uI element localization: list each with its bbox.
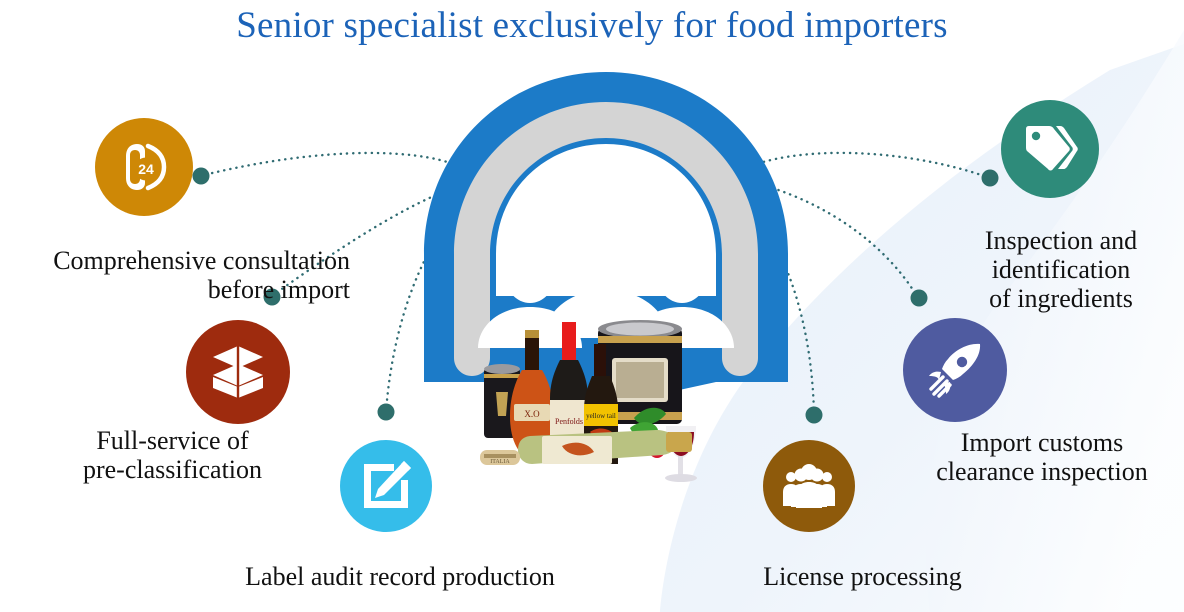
label-line-3: of ingredients [938, 284, 1184, 313]
node-inspection-identification[interactable] [1001, 100, 1099, 198]
label-line-1: Comprehensive consultation [0, 246, 350, 275]
person-right-head [657, 247, 707, 303]
label-full-service-preclassification: Full-service of pre-classification [40, 426, 305, 484]
svg-text:Penfolds: Penfolds [555, 417, 583, 426]
label-line-2: identification [938, 255, 1184, 284]
label-line-2: before import [0, 275, 350, 304]
label-line-2: clearance inspection [900, 457, 1184, 486]
person-left-head [505, 247, 555, 303]
endpoint-dot-license [806, 407, 823, 424]
label-line-1: Label audit record production [180, 562, 620, 591]
node-comprehensive-consultation[interactable]: 24 [95, 118, 193, 216]
label-line-1: Import customs [900, 428, 1184, 457]
infographic-canvas: Senior specialist exclusively for food i… [0, 0, 1184, 612]
imported-products-photo: X.O Penfolds yellow tail [470, 300, 720, 500]
node-import-customs-clearance[interactable] [903, 318, 1007, 422]
node-full-service-preclassification[interactable] [186, 320, 290, 424]
label-import-customs-clearance: Import customs clearance inspection [900, 428, 1184, 486]
edit-document-icon [360, 460, 412, 512]
corks: ITALIA [480, 450, 520, 465]
svg-text:X.O: X.O [524, 409, 540, 419]
label-line-2: pre-classification [40, 455, 305, 484]
node-label-audit-record[interactable] [340, 440, 432, 532]
svg-text:ITALIA: ITALIA [490, 459, 510, 465]
label-license-processing: License processing [690, 562, 1035, 591]
label-label-audit-record: Label audit record production [180, 562, 620, 591]
phone-24h-icon: 24 [115, 138, 173, 196]
endpoint-dot-consultation [193, 168, 210, 185]
label-line-1: License processing [690, 562, 1035, 591]
people-group-icon [782, 463, 836, 509]
label-comprehensive-consultation: Comprehensive consultation before import [0, 246, 350, 304]
svg-text:24: 24 [138, 161, 154, 177]
endpoint-dot-label-audit [378, 404, 395, 421]
open-box-icon [209, 344, 267, 400]
svg-text:yellow tail: yellow tail [586, 412, 616, 420]
page-title: Senior specialist exclusively for food i… [0, 4, 1184, 47]
person-center-head [576, 219, 636, 287]
node-license-processing[interactable] [763, 440, 855, 532]
label-line-1: Inspection and [938, 226, 1184, 255]
endpoint-dot-customs [911, 290, 928, 307]
label-line-1: Full-service of [40, 426, 305, 455]
endpoint-dot-inspection [982, 170, 999, 187]
tags-icon [1022, 123, 1078, 175]
label-inspection-identification: Inspection and identification of ingredi… [938, 226, 1184, 313]
rocket-icon [926, 341, 984, 399]
